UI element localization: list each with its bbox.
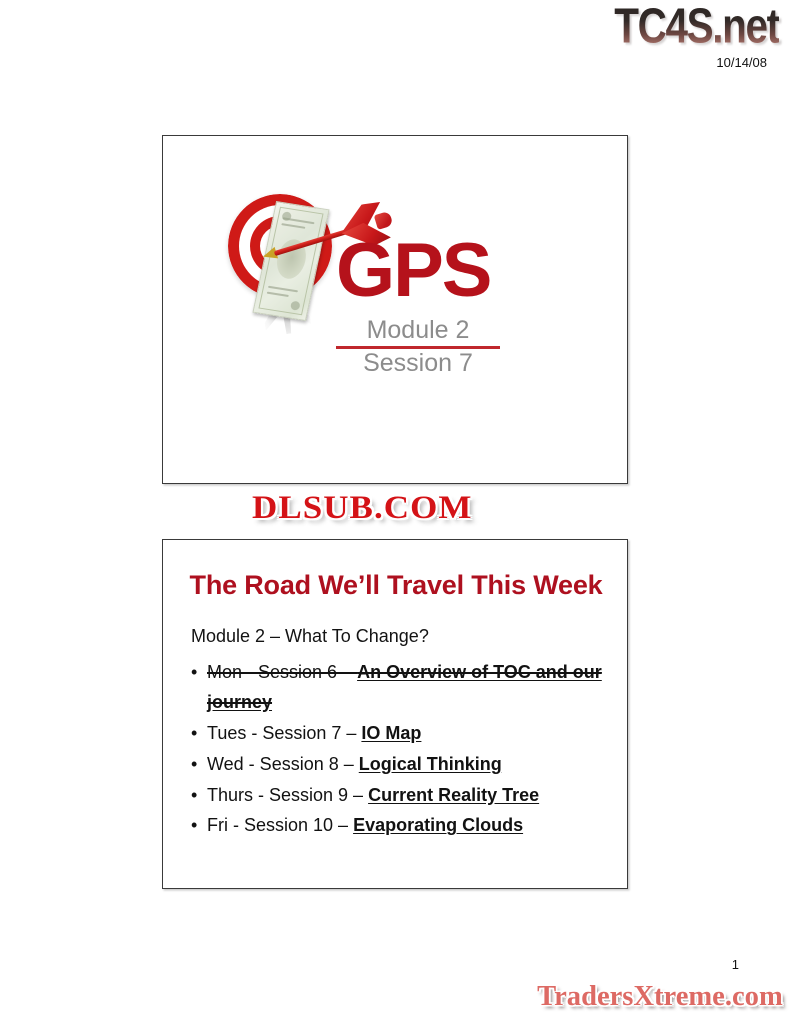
- agenda-item: •Wed - Session 8 – Logical Thinking: [187, 750, 607, 780]
- agenda-item-topic: Current Reality Tree: [368, 785, 539, 805]
- agenda-item-day: Mon - Session 6 –: [207, 662, 357, 682]
- slide-intro-line: Module 2 – What To Change?: [191, 626, 429, 647]
- agenda-item-text: Tues - Session 7 – IO Map: [207, 723, 421, 743]
- agenda-item-day: Tues - Session 7 –: [207, 723, 361, 743]
- dlsub-watermark: DLSUB.COM: [252, 490, 472, 527]
- agenda-item: •Fri - Session 10 – Evaporating Clouds: [187, 811, 607, 841]
- gps-logo: GPS Module 2 Session 7: [226, 186, 571, 426]
- agenda-item-day: Fri - Session 10 –: [207, 815, 353, 835]
- gps-module-label: Module 2: [336, 316, 500, 345]
- slide-title: The Road We’ll Travel This Week: [163, 570, 629, 601]
- agenda-item: •Thurs - Session 9 – Current Reality Tre…: [187, 781, 607, 811]
- bullet-marker-icon: •: [191, 658, 197, 688]
- slide-2: The Road We’ll Travel This Week Module 2…: [162, 539, 628, 889]
- agenda-item-topic: Evaporating Clouds: [353, 815, 523, 835]
- page-header: TC4S.net TC4S.net 10/14/08: [0, 0, 791, 90]
- agenda-item-text: Fri - Session 10 – Evaporating Clouds: [207, 815, 523, 835]
- agenda-item: •Mon - Session 6 – An Overview of TOC an…: [187, 658, 607, 718]
- gps-wordmark: GPS: [336, 238, 491, 303]
- agenda-item-text: Mon - Session 6 – An Overview of TOC and…: [207, 662, 602, 712]
- agenda-item-topic: Logical Thinking: [359, 754, 502, 774]
- agenda-item-day: Wed - Session 8 –: [207, 754, 359, 774]
- site-logo: TC4S.net: [615, 2, 779, 51]
- bullet-marker-icon: •: [191, 811, 197, 841]
- agenda-item-text: Thurs - Session 9 – Current Reality Tree: [207, 785, 539, 805]
- agenda-item-topic: IO Map: [361, 723, 421, 743]
- bullet-marker-icon: •: [191, 719, 197, 749]
- page-number: 1: [732, 957, 739, 972]
- agenda-item-text: Wed - Session 8 – Logical Thinking: [207, 754, 502, 774]
- gps-session-label: Session 7: [336, 349, 500, 378]
- bullet-marker-icon: •: [191, 781, 197, 811]
- agenda-item-day: Thurs - Session 9 –: [207, 785, 368, 805]
- gps-subtitle: Module 2 Session 7: [336, 316, 500, 378]
- header-date: 10/14/08: [716, 55, 767, 70]
- agenda-list: •Mon - Session 6 – An Overview of TOC an…: [187, 658, 607, 842]
- agenda-item: •Tues - Session 7 – IO Map: [187, 719, 607, 749]
- bullet-marker-icon: •: [191, 750, 197, 780]
- tradersxtreme-brand: TradersXtreme.com: [537, 981, 783, 1013]
- slide-1: GPS Module 2 Session 7: [162, 135, 628, 484]
